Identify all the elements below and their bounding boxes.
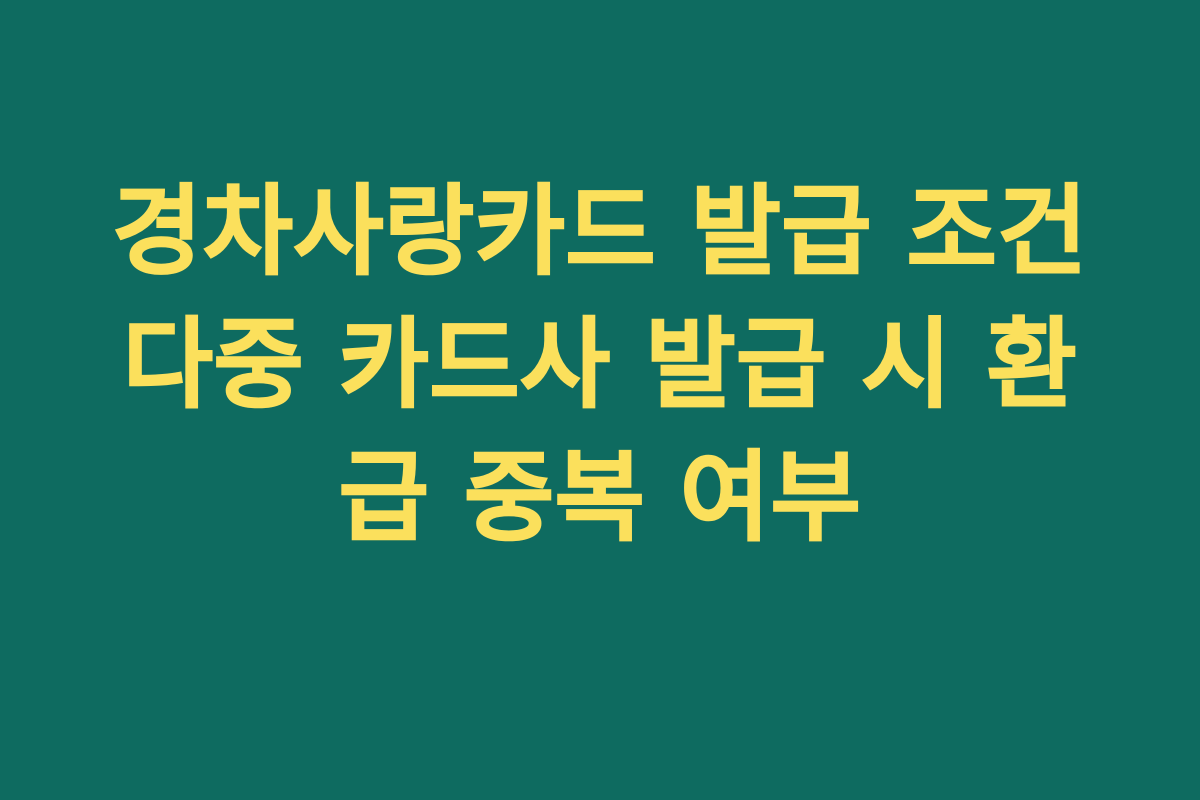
banner-title-line-3: 급 중복 여부 [70, 432, 1130, 565]
banner-title-line-2: 다중 카드사 발급 시 환 [70, 299, 1130, 432]
banner-title-line-1: 경차사랑카드 발급 조건 [70, 166, 1130, 299]
thumbnail-banner: 경차사랑카드 발급 조건 다중 카드사 발급 시 환 급 중복 여부 [0, 0, 1200, 800]
banner-title: 경차사랑카드 발급 조건 다중 카드사 발급 시 환 급 중복 여부 [70, 166, 1130, 565]
